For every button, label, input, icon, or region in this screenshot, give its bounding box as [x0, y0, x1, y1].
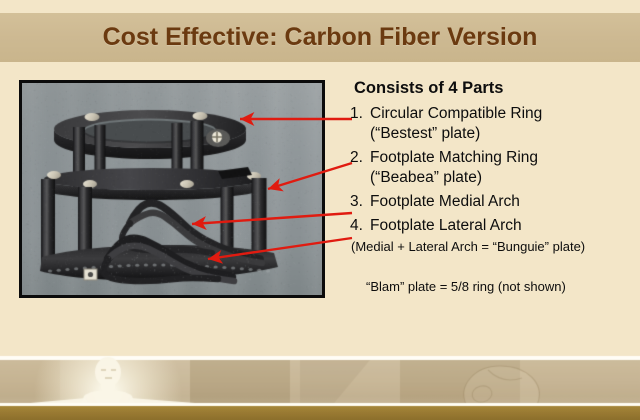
- list-item: 2. Footplate Matching Ring (“Beabea” pla…: [350, 148, 638, 188]
- part-subtitle: (“Bestest” plate): [370, 124, 542, 144]
- part-label: Circular Compatible Ring: [370, 104, 542, 124]
- parts-heading: Consists of 4 Parts: [354, 78, 638, 98]
- part-number: 3.: [350, 192, 370, 212]
- part-label: Footplate Medial Arch: [370, 192, 520, 212]
- anatomy-decorative-band: [0, 330, 640, 420]
- note-bunguie: (Medial + Lateral Arch = “Bunguie” plate…: [351, 239, 638, 255]
- part-text-group: Circular Compatible Ring (“Bestest” plat…: [370, 104, 542, 144]
- list-item: 3. Footplate Medial Arch: [350, 192, 638, 212]
- part-text-group: Footplate Matching Ring (“Beabea” plate): [370, 148, 538, 188]
- list-item: 4. Footplate Lateral Arch: [350, 216, 638, 236]
- part-subtitle: (“Beabea” plate): [370, 168, 538, 188]
- part-label: Footplate Lateral Arch: [370, 216, 522, 236]
- part-number: 1.: [350, 104, 370, 124]
- carbon-fiber-frame-photo: [19, 80, 325, 298]
- slide-title-band: Cost Effective: Carbon Fiber Version: [0, 13, 640, 62]
- part-text-group: Footplate Medial Arch: [370, 192, 520, 212]
- slide-canvas: Cost Effective: Carbon Fiber Version Con…: [0, 0, 640, 420]
- note-blam: “Blam” plate = 5/8 ring (not shown): [366, 279, 638, 295]
- part-number: 4.: [350, 216, 370, 236]
- photo-image: [22, 83, 322, 295]
- part-label: Footplate Matching Ring: [370, 148, 538, 168]
- parts-list-panel: Consists of 4 Parts 1. Circular Compatib…: [338, 78, 638, 295]
- page-title: Cost Effective: Carbon Fiber Version: [103, 23, 538, 52]
- part-text-group: Footplate Lateral Arch: [370, 216, 522, 236]
- part-number: 2.: [350, 148, 370, 168]
- list-item: 1. Circular Compatible Ring (“Bestest” p…: [350, 104, 638, 144]
- footer-image: [0, 330, 640, 420]
